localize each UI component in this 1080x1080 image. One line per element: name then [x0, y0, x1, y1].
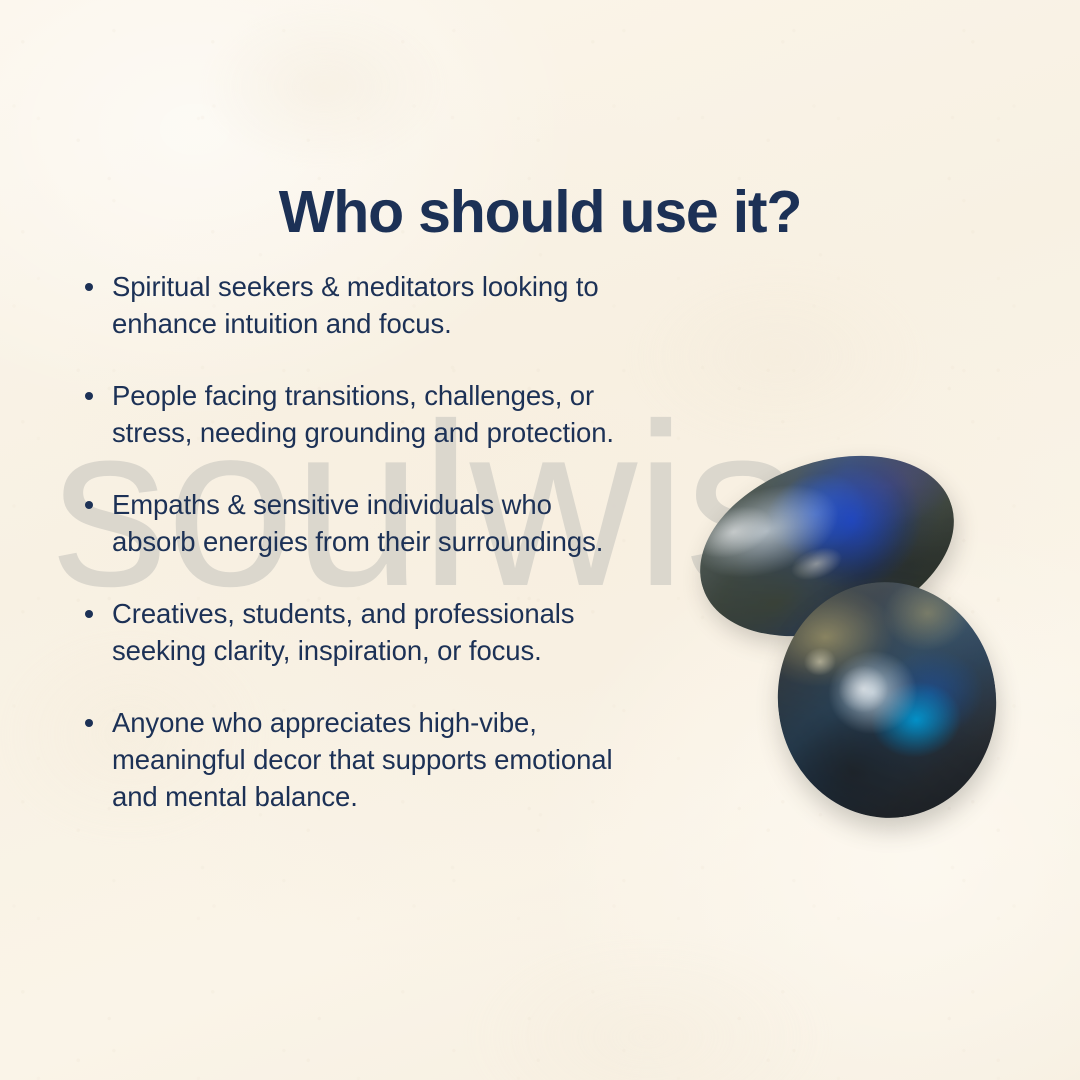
bullet-dot-icon: [85, 719, 93, 727]
promo-card: soulwise Who should use it? Spiritual se…: [0, 0, 1080, 1080]
list-item: Empaths & sensitive individuals who abso…: [78, 486, 623, 560]
list-item: Creatives, students, and professionals s…: [78, 595, 623, 669]
bullet-dot-icon: [85, 610, 93, 618]
bullet-dot-icon: [85, 501, 93, 509]
list-item-text: Empaths & sensitive individuals who abso…: [112, 486, 623, 560]
audience-bullet-list: Spiritual seekers & meditators looking t…: [78, 268, 623, 815]
bullet-dot-icon: [85, 392, 93, 400]
page-title: Who should use it?: [0, 178, 1080, 246]
list-item-text: Creatives, students, and professionals s…: [112, 595, 623, 669]
labradorite-stones-image: [690, 430, 1035, 830]
list-item: People facing transitions, challenges, o…: [78, 377, 623, 451]
list-item: Spiritual seekers & meditators looking t…: [78, 268, 623, 342]
list-item-text: People facing transitions, challenges, o…: [112, 377, 623, 451]
bullet-dot-icon: [85, 283, 93, 291]
list-item-text: Anyone who appreciates high-vibe, meanin…: [112, 704, 623, 815]
list-item-text: Spiritual seekers & meditators looking t…: [112, 268, 623, 342]
list-item: Anyone who appreciates high-vibe, meanin…: [78, 704, 623, 815]
